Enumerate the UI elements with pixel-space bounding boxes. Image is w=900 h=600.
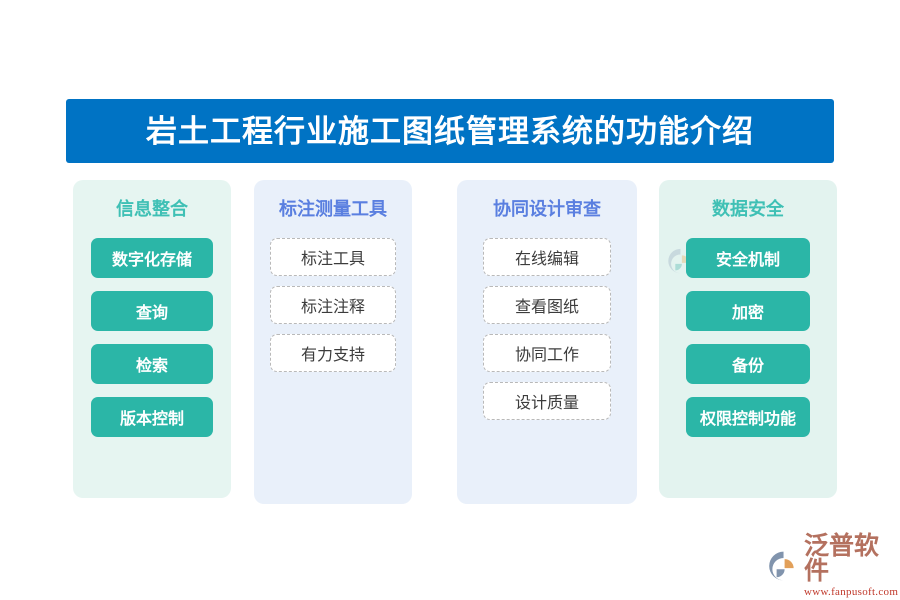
column-title-annotation-measurement-tools: 标注测量工具 <box>254 200 412 218</box>
column-annotation-measurement-tools: 标注测量工具 标注工具 标注注释 有力支持 <box>254 180 412 504</box>
column-items-information-integration: 数字化存储 查询 检索 版本控制 <box>73 238 231 437</box>
feature-card[interactable]: 标注注释 <box>270 286 396 324</box>
feature-button[interactable]: 安全机制 <box>686 238 810 278</box>
column-collaborative-design-review: 协同设计审查 在线编辑 查看图纸 协同工作 设计质量 <box>457 180 637 504</box>
title-banner: 岩土工程行业施工图纸管理系统的功能介绍 <box>66 99 834 163</box>
company-logo: 泛普软件 www.fanpusoft.com <box>766 534 900 598</box>
feature-button[interactable]: 数字化存储 <box>91 238 213 278</box>
company-name: 泛普软件 <box>804 534 900 584</box>
feature-card[interactable]: 在线编辑 <box>483 238 611 276</box>
company-logo-icon <box>766 549 800 583</box>
feature-card[interactable]: 设计质量 <box>483 382 611 420</box>
column-title-information-integration: 信息整合 <box>73 200 231 218</box>
slide-canvas: 岩土工程行业施工图纸管理系统的功能介绍 信息整合 数字化存储 查询 检索 版本控… <box>0 0 900 600</box>
feature-button[interactable]: 版本控制 <box>91 397 213 437</box>
feature-button[interactable]: 加密 <box>686 291 810 331</box>
page-title: 岩土工程行业施工图纸管理系统的功能介绍 <box>146 116 754 147</box>
feature-card[interactable]: 查看图纸 <box>483 286 611 324</box>
company-logo-text: 泛普软件 www.fanpusoft.com <box>804 534 900 598</box>
feature-button[interactable]: 检索 <box>91 344 213 384</box>
column-title-data-security: 数据安全 <box>659 200 837 218</box>
feature-button[interactable]: 备份 <box>686 344 810 384</box>
feature-button[interactable]: 权限控制功能 <box>686 397 810 437</box>
column-information-integration: 信息整合 数字化存储 查询 检索 版本控制 <box>73 180 231 498</box>
column-title-collaborative-design-review: 协同设计审查 <box>457 200 637 218</box>
column-items-annotation-measurement-tools: 标注工具 标注注释 有力支持 <box>254 238 412 372</box>
feature-card[interactable]: 有力支持 <box>270 334 396 372</box>
company-url: www.fanpusoft.com <box>804 587 900 598</box>
feature-columns: 信息整合 数字化存储 查询 检索 版本控制 标注测量工具 标注工具 标注注释 有… <box>0 180 900 510</box>
feature-card[interactable]: 协同工作 <box>483 334 611 372</box>
column-items-collaborative-design-review: 在线编辑 查看图纸 协同工作 设计质量 <box>457 238 637 420</box>
column-data-security: 数据安全 安全机制 加密 备份 权限控制功能 <box>659 180 837 498</box>
feature-card[interactable]: 标注工具 <box>270 238 396 276</box>
column-items-data-security: 安全机制 加密 备份 权限控制功能 <box>659 238 837 437</box>
feature-button[interactable]: 查询 <box>91 291 213 331</box>
